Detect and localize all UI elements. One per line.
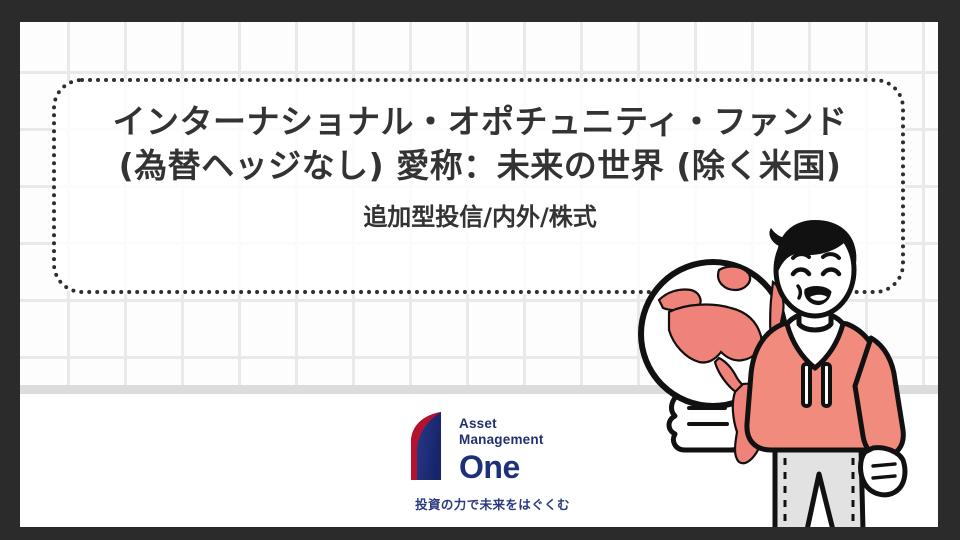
slide-letterbox-frame: インターナショナル・オポチュニティ・ファンド (為替ヘッジなし) 愛称：未来の世… [0,0,960,540]
character-right-hand [861,448,905,495]
presentation-slide: インターナショナル・オポチュニティ・ファンド (為替ヘッジなし) 愛称：未来の世… [20,22,938,527]
logo-text-asset: Asset [459,416,544,432]
hoodie-drawstring-right [823,364,830,406]
character-pants [775,448,863,527]
hoodie-drawstring-left [803,364,810,406]
asset-management-one-logo: Asset Management One 投資の力で未来をはぐくむ [405,412,605,513]
logo-text-management: Management [459,432,544,448]
logo-tagline: 投資の力で未来をはぐくむ [405,494,580,513]
illustration-man-with-globe [615,212,938,527]
logo-sail-mark [405,412,447,480]
logo-text-one: One [459,451,544,483]
